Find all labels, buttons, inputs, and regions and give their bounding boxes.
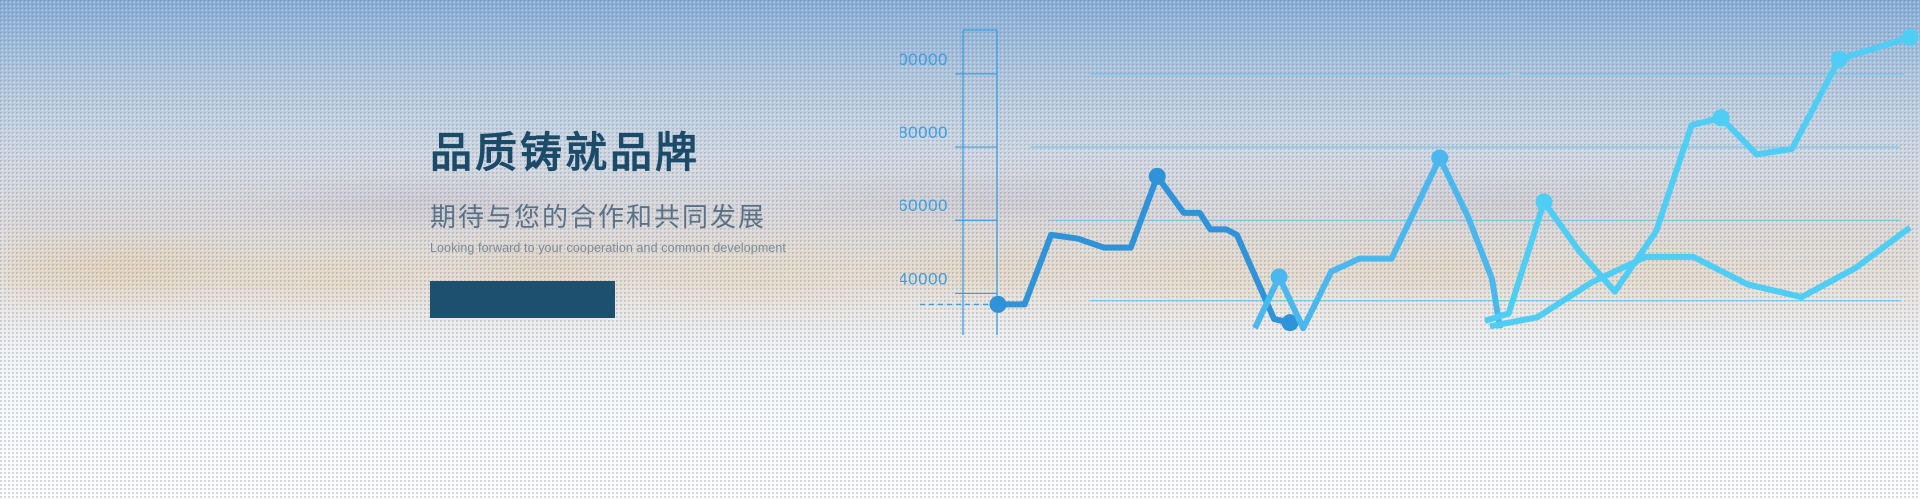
data-point-marker[interactable] <box>1271 268 1288 285</box>
chart-series-series-light <box>1485 29 1919 321</box>
series-line <box>1490 228 1910 327</box>
hero-line-chart: 400006000080000100000 <box>900 0 1920 500</box>
hero-banner: 品质铸就品牌 期待与您的合作和共同发展 Looking forward to y… <box>0 0 1920 500</box>
data-point-marker[interactable] <box>1536 193 1553 210</box>
hero-subheadline-english: Looking forward to your cooperation and … <box>430 242 910 255</box>
hero-copy-block: 品质铸就品牌 期待与您的合作和共同发展 Looking forward to y… <box>430 132 910 318</box>
line-chart-svg: 400006000080000100000 <box>900 0 1920 500</box>
data-point-marker[interactable] <box>990 296 1007 313</box>
series-line <box>1255 158 1500 328</box>
y-axis-tick-label: 100000 <box>900 50 948 69</box>
data-point-marker[interactable] <box>1713 109 1730 126</box>
hero-cta-button[interactable] <box>430 281 615 318</box>
data-point-marker[interactable] <box>1431 150 1448 167</box>
chart-series-series-dark <box>990 168 1299 331</box>
data-point-marker[interactable] <box>1831 51 1848 68</box>
y-axis-tick-label: 60000 <box>900 196 948 215</box>
series-line <box>1485 37 1910 321</box>
hero-headline: 品质铸就品牌 <box>430 132 910 174</box>
data-point-marker[interactable] <box>1902 29 1919 46</box>
y-axis-tick-label: 40000 <box>900 269 948 288</box>
chart-series-series-low <box>1490 228 1910 327</box>
y-axis-tick-label: 80000 <box>900 123 948 142</box>
data-point-marker[interactable] <box>1149 168 1166 185</box>
chart-series-series-mid <box>1255 150 1500 329</box>
hero-subheadline: 期待与您的合作和共同发展 <box>430 204 910 230</box>
